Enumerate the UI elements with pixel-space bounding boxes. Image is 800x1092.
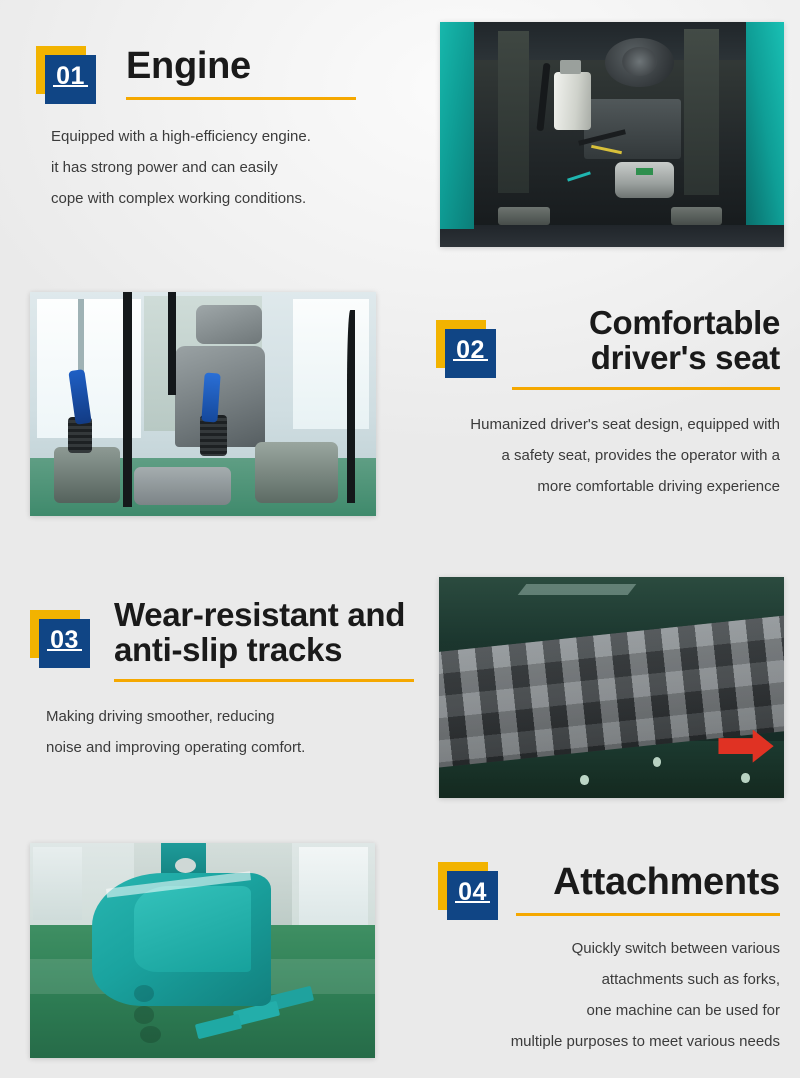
section-header-01: 01 Engine: [36, 46, 416, 104]
rubber-track-photo: [439, 577, 784, 798]
number-badge-01: 01: [36, 46, 96, 104]
bucket-attachment-photo: [30, 843, 375, 1058]
section-header-04: 04 Attachments: [404, 862, 784, 920]
section-body-attachments: Quickly switch between various attachmen…: [404, 934, 784, 1058]
title-block-04: Attachments: [516, 862, 784, 916]
section-body-tracks: Making driving smoother, reducing noise …: [30, 702, 420, 764]
badge-underline: [455, 901, 490, 903]
driver-seat-photo: [30, 292, 376, 516]
section-title-driver-seat: Comfortable driver's seat: [512, 306, 780, 376]
feature-section-attachments: 04 Attachments Quickly switch between va…: [404, 862, 784, 1058]
title-underline-rule: [126, 97, 356, 100]
section-title-tracks: Wear-resistant and anti-slip tracks: [114, 598, 414, 668]
bottom-white-strip: [0, 1078, 800, 1092]
badge-underline: [53, 85, 88, 87]
badge-underline: [47, 649, 82, 651]
title-underline-rule: [114, 679, 414, 682]
number-badge-03: 03: [30, 610, 90, 668]
title-underline-rule: [512, 387, 780, 390]
badge-number-text: 01: [45, 55, 96, 104]
section-body-driver-seat: Humanized driver's seat design, equipped…: [404, 410, 784, 503]
engine-bay-photo: [440, 22, 784, 247]
section-body-engine: Equipped with a high-efficiency engine. …: [36, 122, 416, 215]
title-underline-rule: [516, 913, 780, 916]
badge-underline: [453, 359, 488, 361]
feature-highlights-page: 01 Engine Equipped with a high-efficienc…: [0, 0, 800, 1092]
number-badge-04: 04: [438, 862, 498, 920]
title-block-02: Comfortable driver's seat: [512, 306, 784, 390]
section-header-02: 02 Comfortable driver's seat: [404, 306, 784, 390]
section-title-attachments: Attachments: [516, 862, 780, 902]
badge-number-text: 04: [447, 871, 498, 920]
section-title-engine: Engine: [126, 46, 356, 86]
badge-number-text: 02: [445, 329, 496, 378]
section-header-03: 03 Wear-resistant and anti-slip tracks: [30, 598, 420, 682]
title-block-03: Wear-resistant and anti-slip tracks: [90, 598, 414, 682]
feature-section-driver-seat: 02 Comfortable driver's seat Humanized d…: [404, 306, 784, 503]
feature-section-engine: 01 Engine Equipped with a high-efficienc…: [36, 46, 416, 215]
number-badge-02: 02: [436, 320, 496, 378]
feature-section-tracks: 03 Wear-resistant and anti-slip tracks M…: [30, 598, 420, 764]
title-block-01: Engine: [96, 46, 356, 100]
badge-number-text: 03: [39, 619, 90, 668]
